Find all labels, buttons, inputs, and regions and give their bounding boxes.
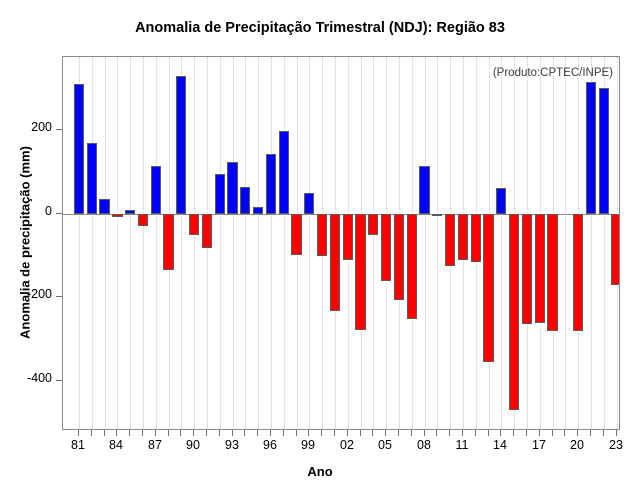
x-tick-mark [206, 430, 207, 436]
bar [573, 214, 583, 331]
bar [599, 88, 609, 213]
x-tick-mark [462, 430, 463, 436]
bar [176, 76, 186, 214]
bar [291, 214, 301, 256]
bar [330, 214, 340, 311]
gridline-vertical [309, 57, 310, 429]
gridline-vertical [194, 57, 195, 429]
x-tick-label: 81 [66, 438, 90, 452]
x-tick-mark [590, 430, 591, 436]
gridline-vertical [117, 57, 118, 429]
bar [253, 207, 263, 214]
chart-title: Anomalia de Precipitação Trimestral (NDJ… [0, 20, 640, 36]
gridline-vertical [258, 57, 259, 429]
x-tick-label: 02 [335, 438, 359, 452]
gridline-vertical [373, 57, 374, 429]
bar [458, 214, 468, 260]
x-tick-mark [321, 430, 322, 436]
bar [151, 166, 161, 213]
x-tick-mark [526, 430, 527, 436]
x-tick-mark [513, 430, 514, 436]
bar [419, 166, 429, 213]
gridline-vertical [143, 57, 144, 429]
bar [522, 214, 532, 325]
bar [304, 193, 314, 214]
x-tick-mark [398, 430, 399, 436]
x-tick-label: 05 [373, 438, 397, 452]
bar [611, 214, 620, 285]
bar [547, 214, 557, 331]
x-tick-mark [436, 430, 437, 436]
gridline-vertical [245, 57, 246, 429]
bar [432, 214, 442, 216]
x-tick-mark [78, 430, 79, 436]
x-tick-mark [564, 430, 565, 436]
y-axis: 2000-200-400 [0, 56, 62, 430]
bar [227, 162, 237, 214]
x-tick-label: 14 [488, 438, 512, 452]
x-tick-label: 90 [181, 438, 205, 452]
bar [163, 214, 173, 270]
bar [99, 199, 109, 214]
gridline-vertical [156, 57, 157, 429]
gridline-vertical [565, 57, 566, 429]
x-tick-mark [116, 430, 117, 436]
x-tick-mark [372, 430, 373, 436]
y-tick-label: -400 [8, 371, 52, 385]
source-annotation: (Produto:CPTEC/INPE) [493, 67, 613, 79]
x-tick-label: 99 [296, 438, 320, 452]
x-tick-mark [500, 430, 501, 436]
x-axis: 818487909396990205081114172023 [62, 430, 620, 464]
x-tick-label: 93 [220, 438, 244, 452]
bar [394, 214, 404, 301]
plot-area: (Produto:CPTEC/INPE) [62, 56, 620, 430]
x-tick-label: 87 [143, 438, 167, 452]
x-tick-mark [219, 430, 220, 436]
bar [74, 84, 84, 214]
y-tick-label: 200 [8, 120, 52, 134]
bar [202, 214, 212, 248]
y-tick-label: 0 [8, 204, 52, 218]
x-tick-mark [616, 430, 617, 436]
x-tick-label: 11 [450, 438, 474, 452]
bar [189, 214, 199, 236]
bar [215, 174, 225, 214]
x-tick-mark [142, 430, 143, 436]
gridline-vertical [425, 57, 426, 429]
bar [509, 214, 519, 410]
x-tick-mark [475, 430, 476, 436]
bar [407, 214, 417, 319]
x-axis-label: Ano [0, 464, 640, 479]
gridline-vertical [220, 57, 221, 429]
bar [483, 214, 493, 362]
x-tick-mark [449, 430, 450, 436]
chart-figure: Anomalia de Precipitação Trimestral (NDJ… [0, 0, 640, 500]
x-tick-label: 17 [527, 438, 551, 452]
x-tick-mark [488, 430, 489, 436]
bar [240, 187, 250, 213]
x-tick-mark [244, 430, 245, 436]
gridline-vertical [437, 57, 438, 429]
x-tick-label: 20 [565, 438, 589, 452]
x-tick-mark [539, 430, 540, 436]
x-tick-mark [552, 430, 553, 436]
bar [266, 154, 276, 213]
bar [125, 210, 135, 214]
x-tick-mark [411, 430, 412, 436]
x-tick-mark [603, 430, 604, 436]
bar [87, 143, 97, 214]
bar [138, 214, 148, 227]
gridline-vertical [92, 57, 93, 429]
x-tick-mark [360, 430, 361, 436]
bar [279, 131, 289, 214]
x-tick-mark [104, 430, 105, 436]
bar [355, 214, 365, 330]
x-tick-mark [347, 430, 348, 436]
bar [445, 214, 455, 266]
x-tick-mark [334, 430, 335, 436]
x-tick-mark [283, 430, 284, 436]
gridline-vertical [284, 57, 285, 429]
x-tick-mark [308, 430, 309, 436]
x-tick-mark [577, 430, 578, 436]
bar [471, 214, 481, 262]
gridline-vertical [130, 57, 131, 429]
bar [368, 214, 378, 235]
x-tick-mark [168, 430, 169, 436]
bar [535, 214, 545, 323]
bar [343, 214, 353, 260]
x-tick-mark [180, 430, 181, 436]
x-tick-mark [296, 430, 297, 436]
x-tick-label: 84 [104, 438, 128, 452]
gridline-vertical [271, 57, 272, 429]
x-tick-mark [129, 430, 130, 436]
x-tick-mark [232, 430, 233, 436]
gridline-vertical [233, 57, 234, 429]
x-tick-mark [193, 430, 194, 436]
bar [496, 188, 506, 214]
bar [381, 214, 391, 281]
gridline-vertical [105, 57, 106, 429]
x-tick-mark [155, 430, 156, 436]
x-tick-mark [424, 430, 425, 436]
bar [317, 214, 327, 257]
bar [586, 82, 596, 214]
bar [112, 214, 122, 217]
y-tick-label: -200 [8, 287, 52, 301]
x-tick-mark [270, 430, 271, 436]
x-tick-label: 08 [412, 438, 436, 452]
x-tick-mark [385, 430, 386, 436]
gridline-vertical [501, 57, 502, 429]
x-tick-mark [257, 430, 258, 436]
x-tick-mark [91, 430, 92, 436]
x-tick-label: 96 [258, 438, 282, 452]
x-tick-label: 23 [604, 438, 628, 452]
